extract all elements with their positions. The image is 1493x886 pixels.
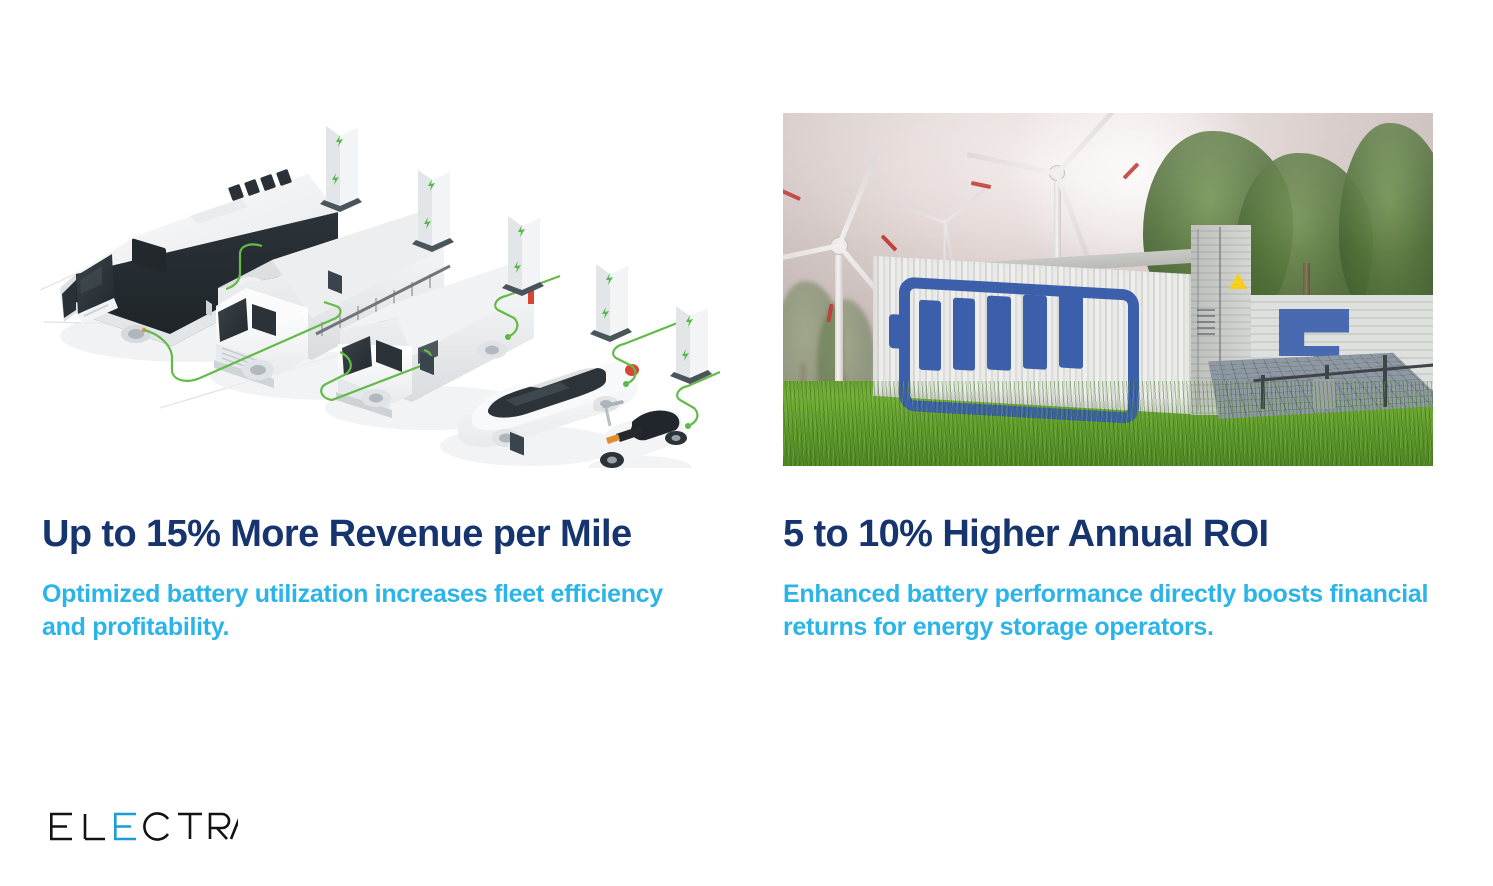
warning-bolt-glyph: ⚡ (1235, 280, 1246, 289)
container-stencil-text (1197, 309, 1215, 337)
logo-letter-L (85, 814, 105, 839)
logo-letter-R (210, 814, 229, 839)
logo-letter-E1 (50, 814, 72, 839)
right-headline: 5 to 10% Higher Annual ROI (783, 514, 1269, 556)
logo-letter-T (178, 814, 202, 839)
slide-root: ⚡ (0, 0, 1493, 886)
logo-letter-C (144, 814, 168, 840)
ev-fleet-charging-illustration (40, 108, 740, 468)
electra-logo (48, 806, 238, 850)
battery-energy-storage-container-photo: ⚡ (783, 113, 1433, 466)
right-subline: Enhanced battery performance directly bo… (783, 578, 1463, 644)
logo-letter-E-accent (114, 814, 136, 839)
left-headline: Up to 15% More Revenue per Mile (42, 514, 632, 556)
left-subline: Optimized battery utilization increases … (42, 578, 682, 644)
grass-texture (783, 381, 1433, 466)
electra-wordmark (48, 811, 238, 845)
logo-letter-A (231, 814, 238, 839)
